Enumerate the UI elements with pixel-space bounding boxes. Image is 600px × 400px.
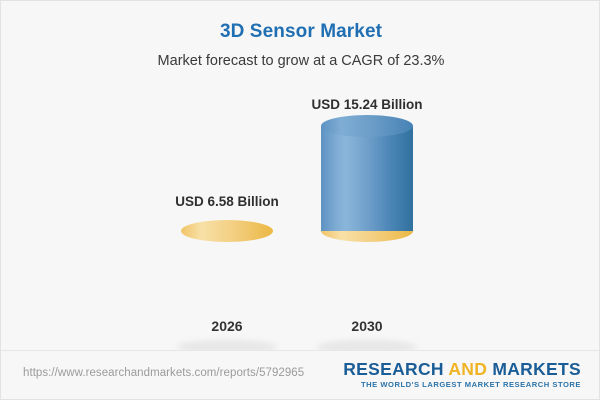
logo-wordmark: RESEARCH AND MARKETS xyxy=(343,359,581,379)
page-title: 3D Sensor Market xyxy=(1,21,600,43)
value-label-2030: USD 15.24 Billion xyxy=(287,97,447,112)
category-label-2030: 2030 xyxy=(287,318,447,334)
category-label-2026: 2026 xyxy=(147,318,307,334)
value-label-2026: USD 6.58 Billion xyxy=(147,194,307,209)
chart-plot-area: USD 6.58 Billion 2026 USD 15.24 Billion … xyxy=(1,81,600,346)
cylinder-segment-gold-2030 xyxy=(321,231,413,311)
cylinder-top-cap-2026 xyxy=(181,220,273,242)
logo-word-research: RESEARCH xyxy=(343,359,444,379)
cylinder-2030[interactable] xyxy=(321,126,413,311)
logo-tagline: THE WORLD'S LARGEST MARKET RESEARCH STOR… xyxy=(343,379,581,390)
bar-group-2026: USD 6.58 Billion 2026 xyxy=(147,81,307,346)
cylinder-2026[interactable] xyxy=(181,231,273,311)
cylinder-top-cap-2030 xyxy=(321,115,413,137)
logo-word-markets: MARKETS xyxy=(492,359,581,379)
infographic-container: 3D Sensor Market Market forecast to grow… xyxy=(0,0,600,400)
cylinder-segment-blue-2030 xyxy=(321,126,413,231)
bar-group-2030: USD 15.24 Billion 2030 xyxy=(287,81,447,346)
cylinder-segment-gold-2026 xyxy=(181,231,273,311)
logo-word-and: AND xyxy=(448,359,487,379)
brand-logo[interactable]: RESEARCH AND MARKETS THE WORLD'S LARGEST… xyxy=(343,359,581,390)
source-url[interactable]: https://www.researchandmarkets.com/repor… xyxy=(23,367,304,379)
footer: https://www.researchandmarkets.com/repor… xyxy=(1,350,599,399)
chart-subtitle: Market forecast to grow at a CAGR of 23.… xyxy=(1,53,600,69)
